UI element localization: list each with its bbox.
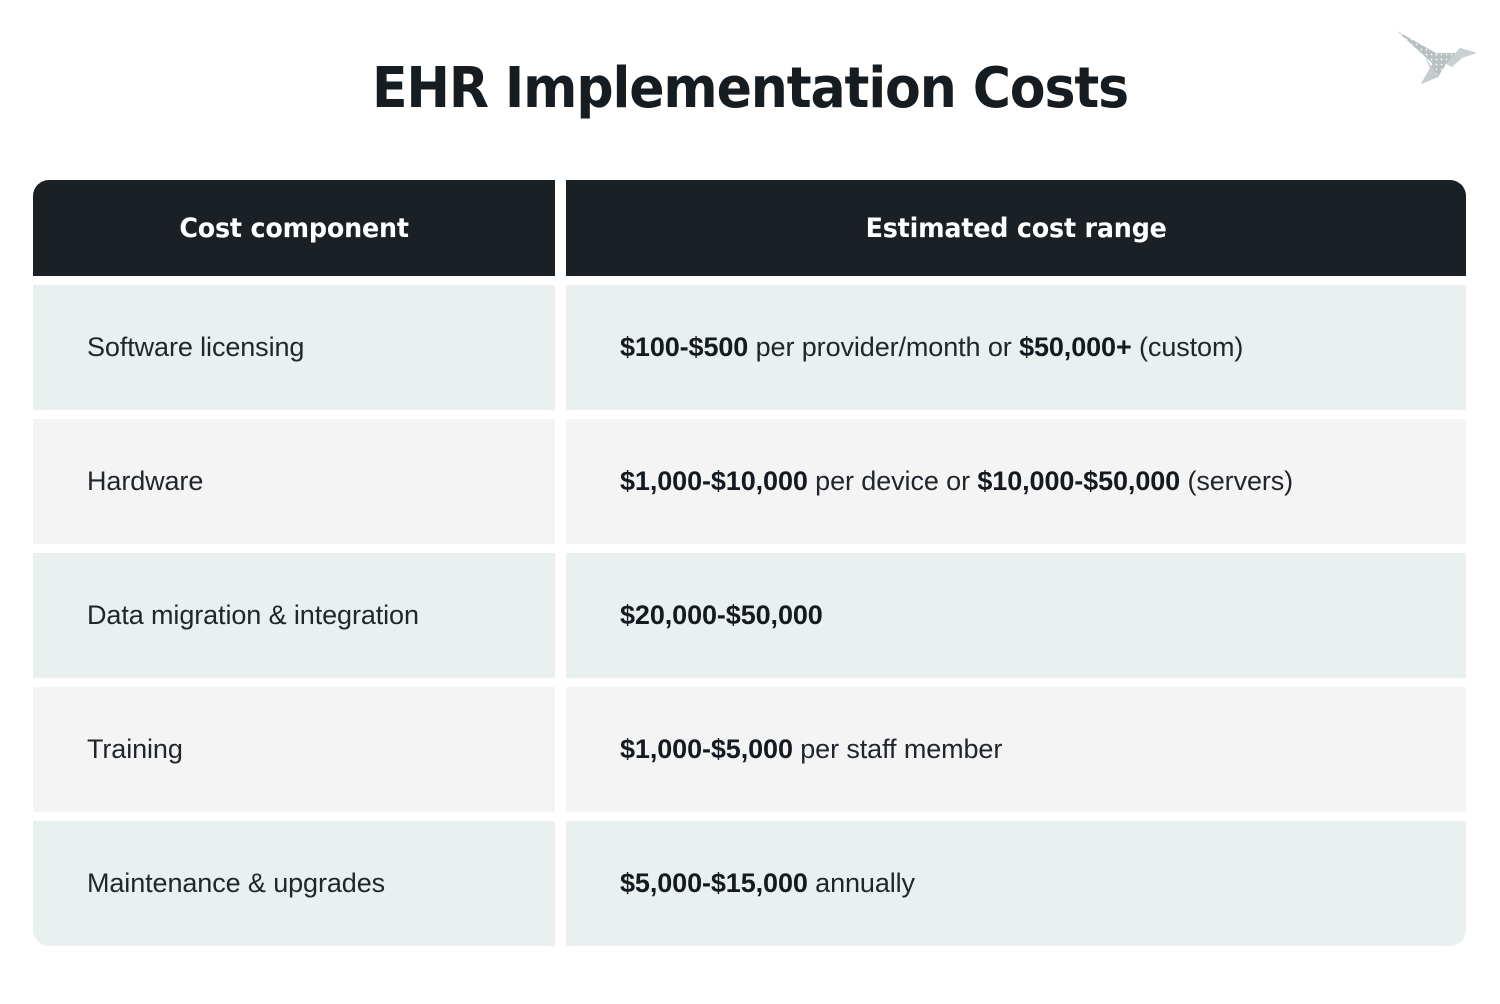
table-row: Training $1,000-$5,000 per staff member: [33, 687, 1466, 812]
cost-range-value: $1,000-$5,000 per staff member: [620, 732, 1002, 767]
table-header-label-component: Cost component: [179, 213, 409, 244]
cost-table: Cost component Estimated cost range Soft…: [33, 180, 1466, 946]
table-cell-cost: $1,000-$10,000 per device or $10,000-$50…: [566, 419, 1466, 544]
table-header-row: Cost component Estimated cost range: [33, 180, 1466, 276]
table-cell-component: Hardware: [33, 419, 555, 544]
cost-range-value: $20,000-$50,000: [620, 598, 823, 633]
table-cell-cost: $1,000-$5,000 per staff member: [566, 687, 1466, 812]
table-row: Software licensing $100-$500 per provide…: [33, 285, 1466, 410]
table-cell-cost: $5,000-$15,000 annually: [566, 821, 1466, 946]
table-header-cell-component: Cost component: [33, 180, 555, 276]
table-cell-component: Training: [33, 687, 555, 812]
cost-component-label: Software licensing: [87, 332, 304, 363]
table-row: Hardware $1,000-$10,000 per device or $1…: [33, 419, 1466, 544]
cost-range-value: $1,000-$10,000 per device or $10,000-$50…: [620, 464, 1293, 499]
cost-range-value: $5,000-$15,000 annually: [620, 866, 915, 901]
table-cell-component: Maintenance & upgrades: [33, 821, 555, 946]
table-cell-cost: $20,000-$50,000: [566, 553, 1466, 678]
page-root: EHR Implementation Costs Cost component …: [0, 0, 1500, 1004]
table-row: Data migration & integration $20,000-$50…: [33, 553, 1466, 678]
cost-component-label: Hardware: [87, 466, 203, 497]
cost-component-label: Training: [87, 734, 183, 765]
table-cell-component: Software licensing: [33, 285, 555, 410]
cost-range-value: $100-$500 per provider/month or $50,000+…: [620, 330, 1243, 365]
table-row: Maintenance & upgrades $5,000-$15,000 an…: [33, 821, 1466, 946]
cost-component-label: Data migration & integration: [87, 600, 419, 631]
page-title: EHR Implementation Costs: [53, 58, 1448, 120]
table-header-cell-cost: Estimated cost range: [566, 180, 1466, 276]
table-header-label-cost: Estimated cost range: [865, 213, 1166, 244]
table-cell-cost: $100-$500 per provider/month or $50,000+…: [566, 285, 1466, 410]
cost-component-label: Maintenance & upgrades: [87, 868, 385, 899]
table-cell-component: Data migration & integration: [33, 553, 555, 678]
